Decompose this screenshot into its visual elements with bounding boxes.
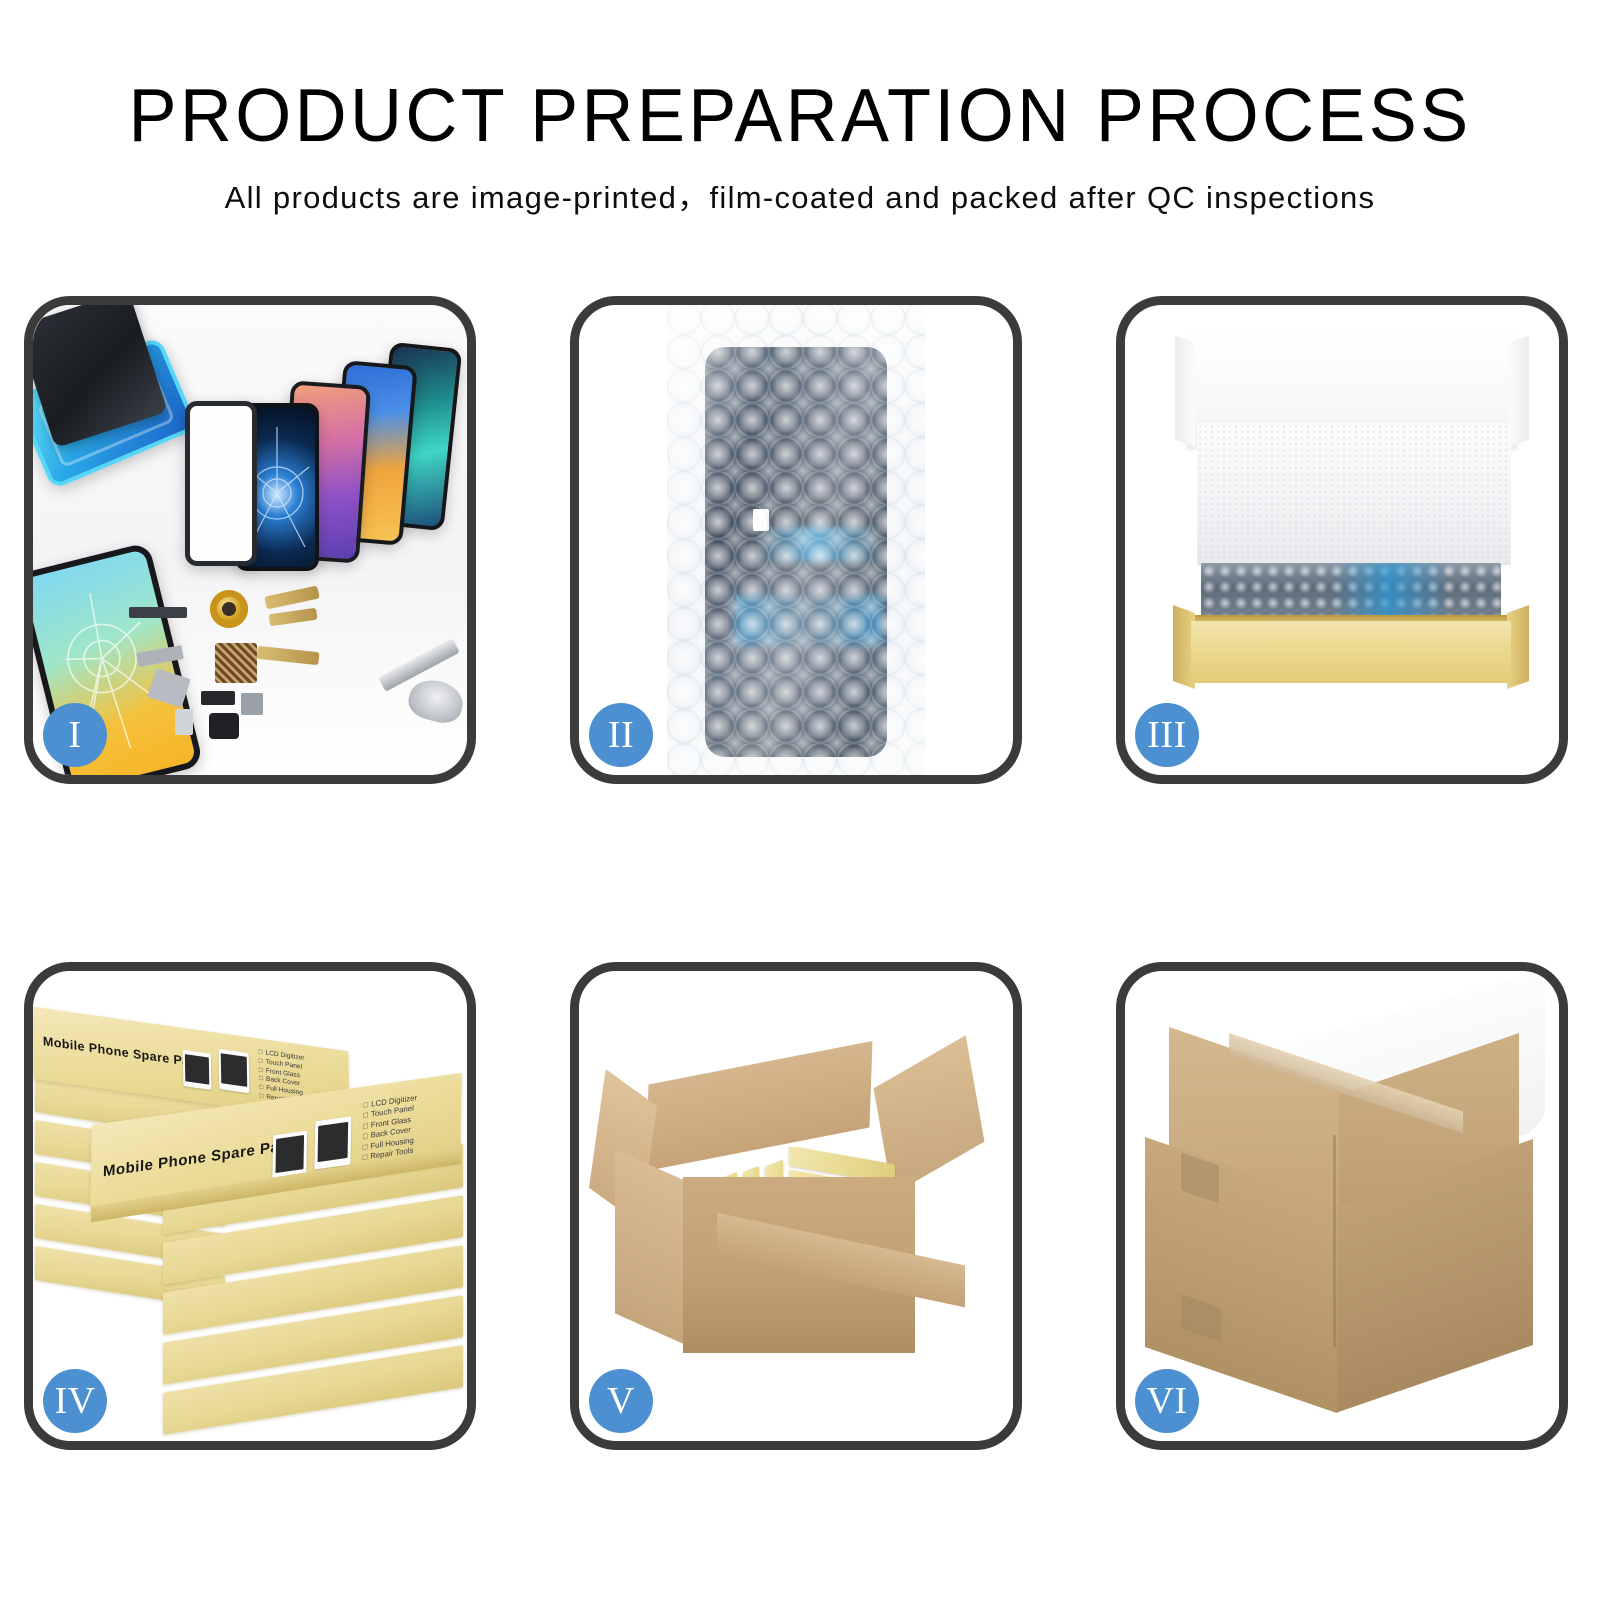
box-front-panel	[1191, 621, 1511, 683]
step-panel-bubble-wrap-packing[interactable]: II	[570, 296, 1022, 784]
cpu-chip-graphic	[215, 643, 257, 683]
step-panel-inner-box-packing[interactable]: III	[1116, 296, 1568, 784]
plastic-sheen-layer	[667, 305, 925, 775]
step-image-inner-box	[1125, 305, 1559, 775]
step-image-bubble-wrap	[579, 305, 1013, 775]
step-badge-6: VI	[1135, 1369, 1199, 1433]
carton-left-face	[615, 1149, 685, 1344]
step-badge-5: V	[589, 1369, 653, 1433]
step-image-sealed-carton	[1125, 971, 1559, 1441]
speaker-part-graphic	[201, 691, 235, 705]
bubble-wrap-sleeve-graphic	[667, 305, 925, 775]
step-badge-3: III	[1135, 703, 1199, 767]
step-badge-1: I	[43, 703, 107, 767]
step-badge-2: II	[589, 703, 653, 767]
step-panel-retail-box-stack[interactable]: Mobile Phone Spare Parts LCD Digitizer T…	[24, 962, 476, 1450]
wireless-charging-coil-graphic	[210, 590, 248, 628]
step-image-retail-box-stack: Mobile Phone Spare Parts LCD Digitizer T…	[33, 971, 467, 1441]
step-panel-spare-parts-assortment[interactable]: I	[24, 296, 476, 784]
step-panel-sealed-carton[interactable]: VI	[1116, 962, 1568, 1450]
carton-vertical-seam	[1333, 1135, 1336, 1347]
foam-liner-graphic	[1197, 423, 1511, 565]
gold-box-stack-graphic: Mobile Phone Spare Parts LCD Digitizer T…	[33, 971, 467, 1441]
camera-module-graphic	[241, 693, 263, 715]
step-image-spare-parts	[33, 305, 467, 775]
page-subtitle: All products are image-printed，film-coat…	[0, 181, 1600, 215]
retail-box-phone-thumbnail	[219, 1049, 250, 1093]
retail-box-brand-label: Mobile Phone Spare Parts	[103, 1136, 300, 1181]
earpiece-part-graphic	[129, 607, 187, 618]
step-image-carton-loading	[579, 971, 1013, 1441]
process-steps-grid: I II	[0, 0, 1600, 1600]
page-title: PRODUCT PREPARATION PROCESS	[32, 78, 1568, 153]
page-header: PRODUCT PREPARATION PROCESS All products…	[0, 0, 1600, 215]
vibration-motor-graphic	[209, 713, 239, 739]
front-glass-graphic	[185, 401, 257, 566]
retail-box-checklist: LCD Digitizer Touch Panel Front Glass Ba…	[362, 1093, 417, 1163]
retail-box-phone-thumbnail	[314, 1116, 351, 1169]
step-badge-4: IV	[43, 1369, 107, 1433]
retail-box-phone-thumbnail	[183, 1050, 212, 1090]
sim-tray-graphic	[175, 709, 193, 735]
step-panel-carton-loading[interactable]: V	[570, 962, 1022, 1450]
